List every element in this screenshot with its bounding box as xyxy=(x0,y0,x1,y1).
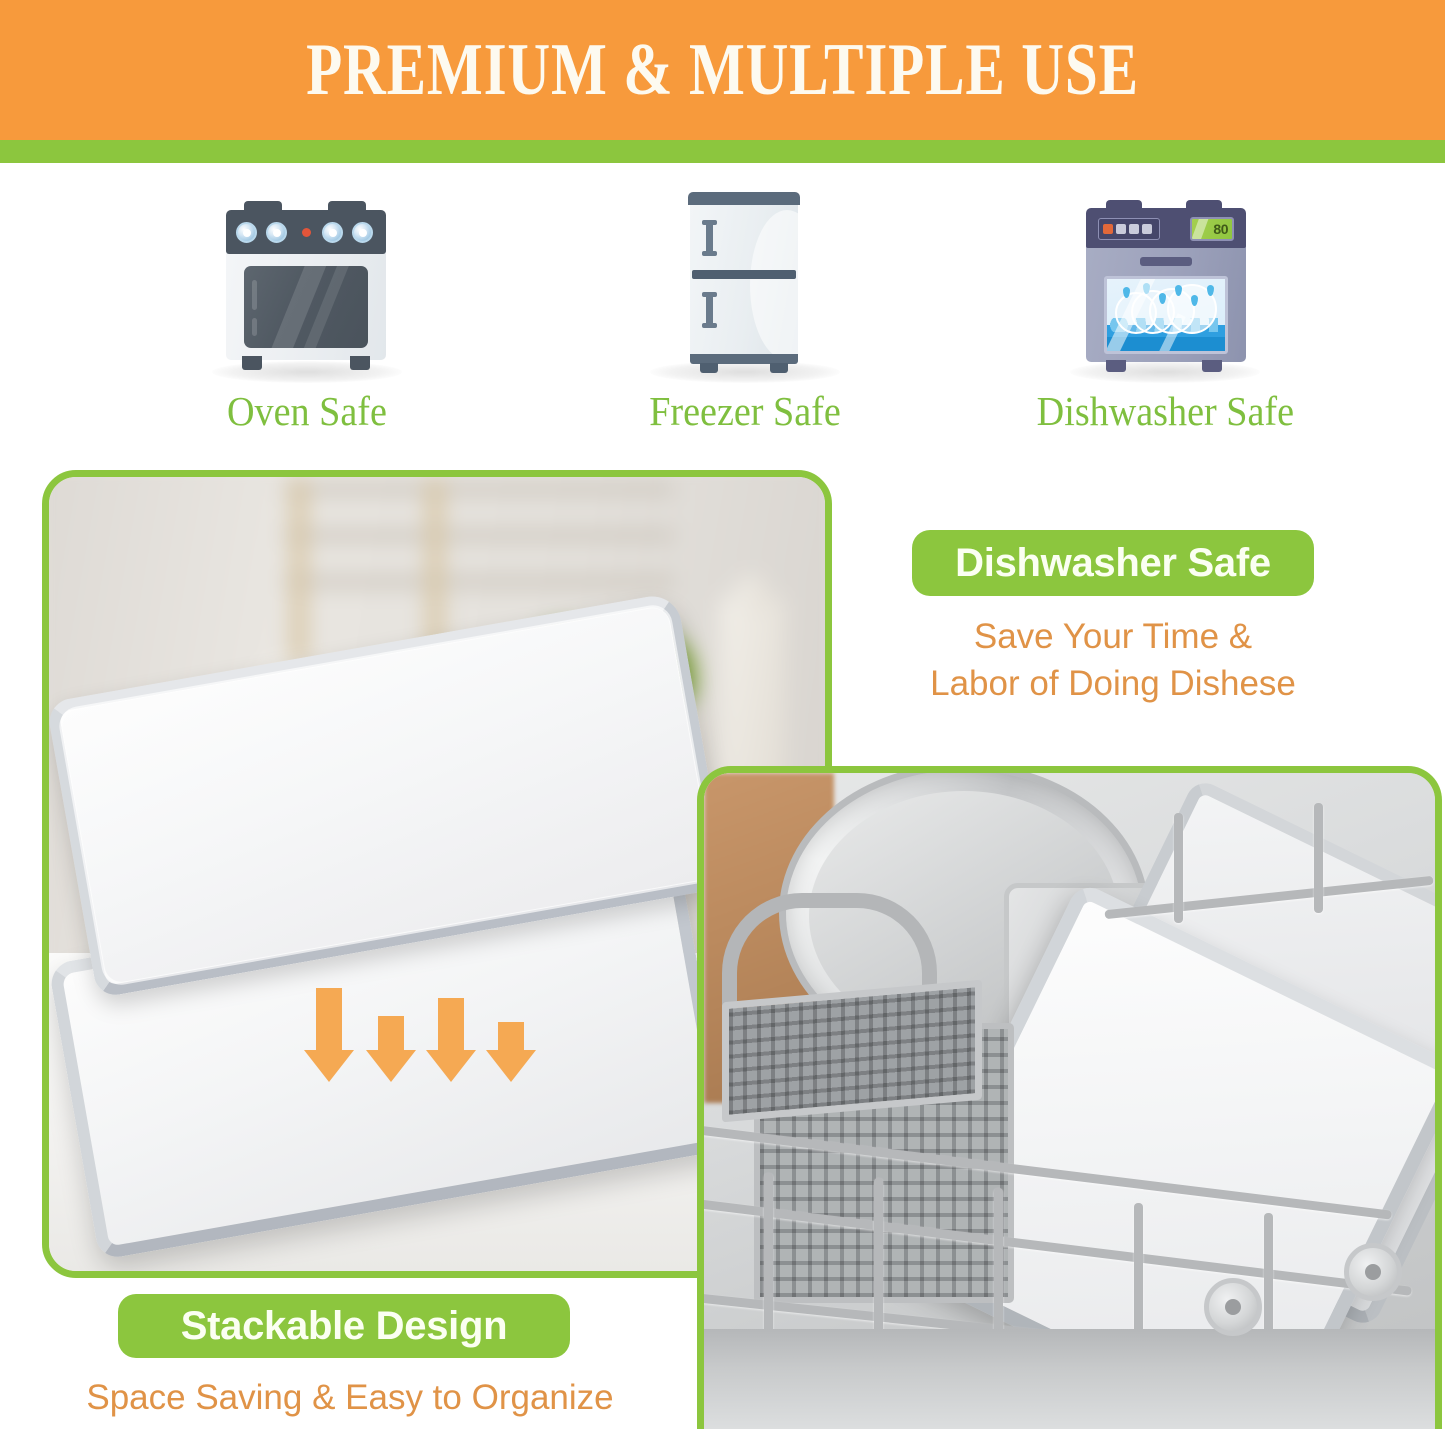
dishwasher-floor xyxy=(704,1329,1435,1429)
rack-wheel xyxy=(1204,1278,1262,1336)
rack-wire xyxy=(1174,813,1183,923)
dishwasher-icon-display: 80 xyxy=(1190,217,1234,241)
callout-line-2: Labor of Doing Dishese xyxy=(912,661,1314,708)
rack-wire xyxy=(764,1173,773,1353)
badge-dishwasher-safe: Dishwasher Safe xyxy=(912,530,1314,596)
page-title: PREMIUM & MULTIPLE USE xyxy=(306,28,1139,113)
feature-freezer: Freezer Safe xyxy=(590,178,900,448)
dishwasher-icon-buttons xyxy=(1098,218,1160,240)
feature-freezer-label: Freezer Safe xyxy=(649,387,841,435)
rack-wheel xyxy=(1344,1243,1402,1301)
feature-oven-label: Oven Safe xyxy=(227,387,387,435)
header-accent-strip xyxy=(0,140,1445,163)
down-arrow-icon xyxy=(426,998,476,1082)
down-arrow-icon xyxy=(486,1022,536,1082)
feature-dishwasher: 80 xyxy=(1000,178,1330,448)
cutlery-basket-lid xyxy=(722,980,982,1123)
oven-icon-shadow xyxy=(212,361,402,383)
dishwasher-display-value: 80 xyxy=(1213,221,1228,237)
badge-stackable-design: Stackable Design xyxy=(118,1294,570,1358)
refrigerator-icon xyxy=(630,178,860,383)
dishwasher-icon: 80 xyxy=(1050,178,1280,383)
callout-dishwasher-safe-text: Save Your Time & Labor of Doing Dishese xyxy=(912,614,1314,708)
callout-dishwasher-safe: Dishwasher Safe Save Your Time & Labor o… xyxy=(912,530,1314,708)
callout-stackable-design: Stackable Design xyxy=(118,1294,570,1358)
feature-dishwasher-label: Dishwasher Safe xyxy=(1036,387,1293,435)
photo-dishwasher-rack xyxy=(697,766,1442,1429)
down-arrow-icon xyxy=(304,988,354,1082)
feature-oven: Oven Safe xyxy=(152,178,462,448)
stacking-arrows xyxy=(304,972,514,1082)
rack-wire xyxy=(1314,803,1323,913)
oven-icon xyxy=(192,178,422,383)
callout-stackable-design-text: Space Saving & Easy to Organize xyxy=(60,1378,640,1418)
feature-icon-row: Oven Safe Freezer Safe xyxy=(0,178,1445,448)
down-arrow-icon xyxy=(366,1016,416,1082)
callout-line-1: Save Your Time & xyxy=(912,614,1314,661)
header-banner: PREMIUM & MULTIPLE USE xyxy=(0,0,1445,140)
